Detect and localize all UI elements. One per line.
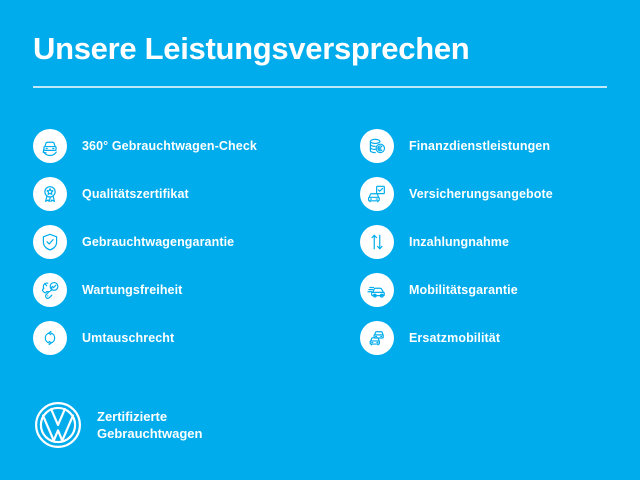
exchange-arrows-icon [33,321,67,355]
promise-item-gebrauchtwagen-check[interactable]: 360° Gebrauchtwagen-Check [33,122,320,170]
promise-label: 360° Gebrauchtwagen-Check [82,138,257,154]
promise-label: Ersatzmobilität [409,330,500,346]
volkswagen-logo-icon [33,400,83,450]
shield-check-icon [33,225,67,259]
promise-item-ersatzmobilitaet[interactable]: Ersatzmobilität [360,314,640,362]
car-360-check-icon [33,129,67,163]
two-cars-icon [360,321,394,355]
coins-euro-icon [360,129,394,163]
promises-column-right: Finanzdienstleistungen Versicheru [320,122,640,362]
promise-label: Wartungsfreiheit [82,282,182,298]
promise-item-inzahlungnahme[interactable]: Inzahlungnahme [360,218,640,266]
promise-item-wartungsfreiheit[interactable]: Wartungsfreiheit [33,266,320,314]
promise-item-finanzdienstleistungen[interactable]: Finanzdienstleistungen [360,122,640,170]
car-motion-icon [360,273,394,307]
promise-item-gebrauchtwagengarantie[interactable]: Gebrauchtwagengarantie [33,218,320,266]
promise-label: Versicherungsangebote [409,186,553,202]
promise-item-versicherungsangebote[interactable]: Versicherungsangebote [360,170,640,218]
page-title: Unsere Leistungsversprechen [33,30,607,68]
promise-label: Gebrauchtwagengarantie [82,234,234,250]
promise-label: Finanzdienstleistungen [409,138,550,154]
wrench-check-icon [33,273,67,307]
header-divider [33,86,607,88]
promises-grid: 360° Gebrauchtwagen-Check Qualitätszerti… [0,122,640,362]
footer-brand: Zertifizierte Gebrauchtwagen [33,400,202,450]
leistungsversprechen-poster: Unsere Leistungsversprechen 360° Gebrauc… [0,0,640,480]
promise-label: Mobilitätsgarantie [409,282,518,298]
promise-label: Inzahlungnahme [409,234,509,250]
footer-brand-text: Zertifizierte Gebrauchtwagen [97,408,202,442]
car-document-check-icon [360,177,394,211]
promise-item-qualitaetszertifikat[interactable]: Qualitätszertifikat [33,170,320,218]
promise-item-mobilitaetsgarantie[interactable]: Mobilitätsgarantie [360,266,640,314]
promise-label: Qualitätszertifikat [82,186,189,202]
footer-line-1: Zertifizierte [97,408,202,425]
up-down-arrows-icon [360,225,394,259]
footer-line-2: Gebrauchtwagen [97,425,202,442]
header: Unsere Leistungsversprechen [33,30,607,68]
promise-label: Umtauschrecht [82,330,174,346]
promise-item-umtauschrecht[interactable]: Umtauschrecht [33,314,320,362]
promises-column-left: 360° Gebrauchtwagen-Check Qualitätszerti… [0,122,320,362]
quality-seal-icon [33,177,67,211]
